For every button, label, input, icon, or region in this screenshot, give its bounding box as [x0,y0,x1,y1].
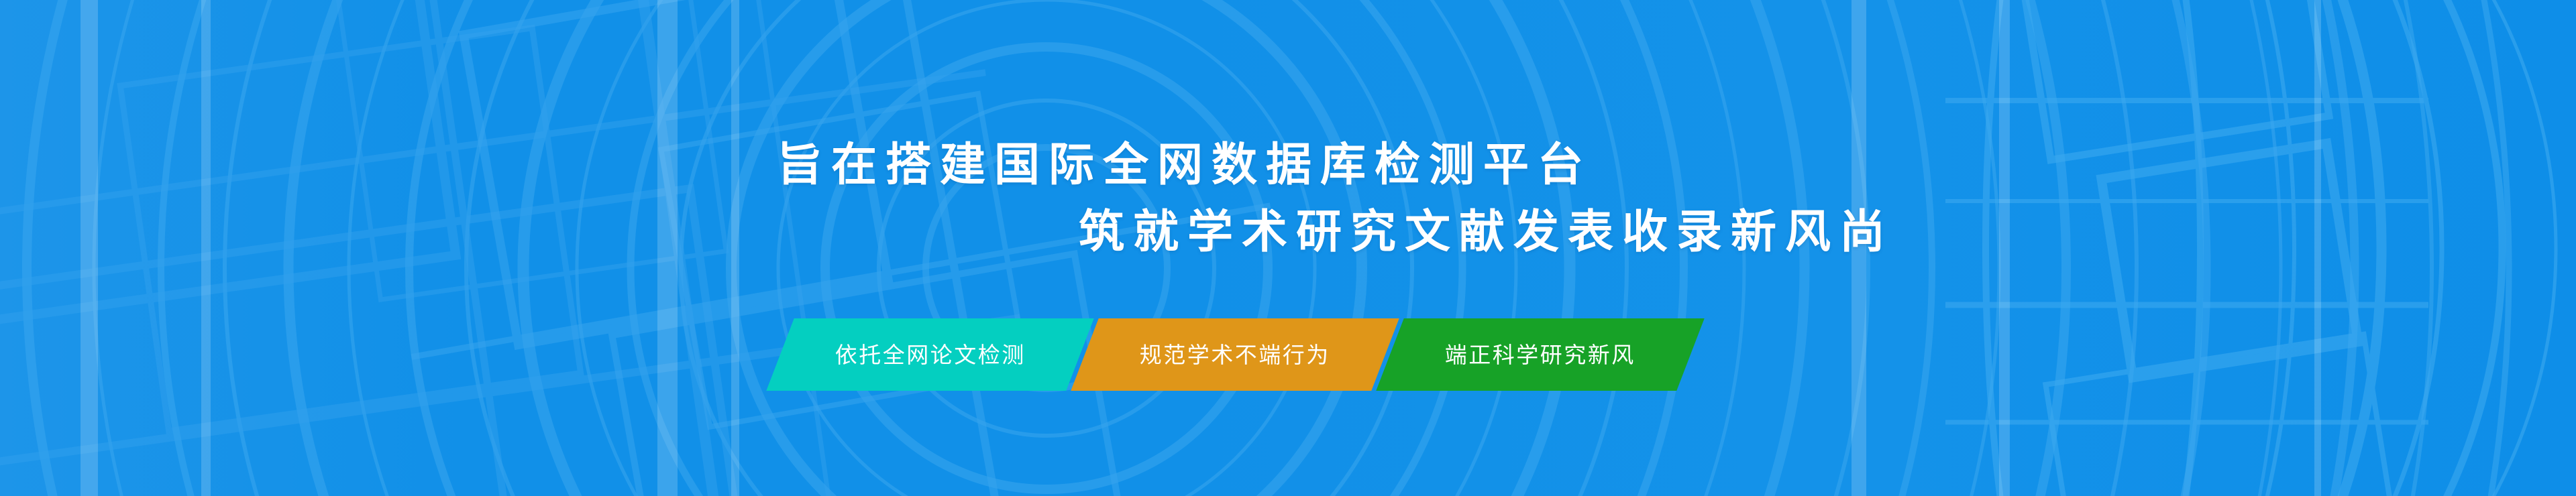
headline-block: 旨在搭建国际全网数据库检测平台 筑就学术研究文献发表收录新风尚 [0,131,2576,265]
feature-segment-1[interactable]: 依托全网论文检测 [766,318,1093,391]
feature-segment-2-label: 规范学术不端行为 [1140,344,1330,366]
feature-segment-1-label: 依托全网论文检测 [835,344,1026,366]
headline-line-1: 旨在搭建国际全网数据库检测平台 [0,131,2576,198]
feature-strip: 依托全网论文检测 规范学术不端行为 端正科学研究新风 [780,318,1690,391]
feature-segment-2[interactable]: 规范学术不端行为 [1071,318,1399,391]
hero-banner: 旨在搭建国际全网数据库检测平台 筑就学术研究文献发表收录新风尚 依托全网论文检测… [0,0,2576,496]
feature-segment-3[interactable]: 端正科学研究新风 [1376,318,1704,391]
headline-line-2: 筑就学术研究文献发表收录新风尚 [0,198,2576,265]
feature-segment-3-label: 端正科学研究新风 [1445,344,1635,366]
